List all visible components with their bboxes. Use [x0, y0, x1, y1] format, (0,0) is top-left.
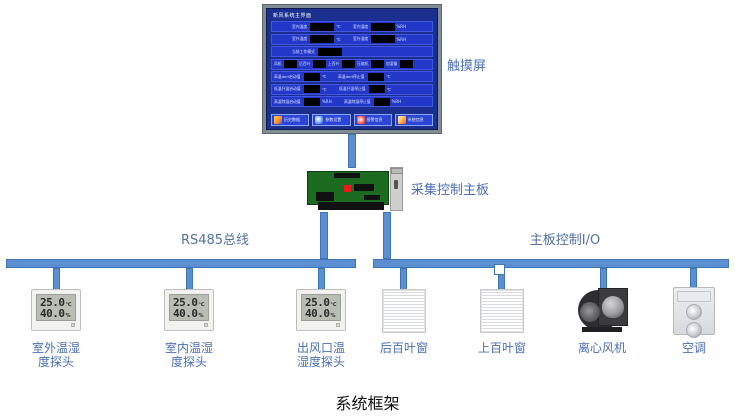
hmi-field: 上百叶 — [328, 60, 355, 68]
hmi-field: 高温derī停止值 ℃ — [338, 73, 390, 81]
field-value-box[interactable] — [304, 85, 320, 93]
touchscreen-label: 触摸屏 — [447, 60, 486, 74]
pcb-port-slot — [394, 180, 398, 189]
pcb-chip — [354, 184, 374, 191]
field-label: 高温deri启动值 — [274, 75, 300, 79]
louver-body — [382, 289, 426, 333]
button-label: 参数设置 — [325, 117, 341, 123]
field-unit: ℃ — [386, 74, 391, 79]
sensor-lcd-display: 25.0 ℃ 40.0 % — [36, 294, 76, 321]
sensor-body: 25.0 ℃ 40.0 % — [296, 289, 346, 331]
hmi-row: 室外温度 ℃ 室外湿度 %RH — [271, 34, 433, 45]
ac-fan-lower — [686, 322, 702, 338]
hmi-field: 室内温度 ℃ — [292, 23, 341, 31]
lcd-humidity: 40.0 — [173, 308, 198, 319]
hmi-row-status: 风机 后百叶 上百叶 压缩机 — [271, 59, 433, 70]
alarm-icon — [357, 116, 365, 124]
drop-line-fan — [600, 268, 607, 290]
hmi-row-mode: 当前工作模式 — [271, 46, 433, 57]
label-outdoor-sensor: 室外温湿 度探头 — [6, 341, 106, 369]
lcd-humidity: 40.0 — [40, 308, 65, 319]
field-unit: ℃ — [322, 87, 327, 92]
field-label: 加湿量 — [386, 62, 397, 66]
pcb-led-indicator — [344, 185, 351, 192]
hmi-button-alarm[interactable]: 报警信息 — [354, 114, 392, 126]
field-value-box[interactable] — [318, 48, 342, 56]
device-outlet-sensor[interactable]: 25.0 ℃ 40.0 % — [296, 289, 346, 331]
hmi-field: 低温升温启动值 ℃ — [274, 85, 327, 93]
hmi-button-bar: 历史数据 参数设置 报警信息 系统信息 — [271, 112, 433, 126]
hmi-field: 高温deri启动值 ℃ — [274, 73, 326, 81]
drop-line-rear-louver — [400, 268, 407, 290]
settings-icon — [315, 116, 323, 124]
hmi-button-settings[interactable]: 参数设置 — [312, 114, 350, 126]
control-board-label: 采集控制主板 — [411, 184, 489, 198]
lcd-temperature: 25.0 — [40, 297, 65, 308]
field-value-box[interactable] — [304, 98, 320, 106]
field-label: 上百叶 — [328, 62, 339, 66]
field-unit: ℃ — [322, 74, 327, 79]
drop-line-outlet-sensor — [318, 268, 325, 290]
field-value-box[interactable] — [313, 60, 326, 68]
field-label: 室外温度 — [292, 37, 307, 41]
fan-inlet — [580, 302, 600, 322]
link-board-to-right-bus — [383, 212, 391, 259]
field-value-box[interactable] — [374, 98, 390, 106]
device-air-conditioner[interactable] — [673, 287, 715, 335]
sensor-body: 25.0 ℃ 40.0 % — [164, 289, 214, 331]
pcb-body — [307, 171, 389, 205]
rs485-bus-bar — [6, 259, 356, 268]
field-value-box[interactable] — [310, 35, 334, 43]
device-centrifugal-fan[interactable] — [578, 288, 630, 332]
field-label: 室内温度 — [292, 25, 307, 29]
field-label: 压缩机 — [357, 62, 368, 66]
acquisition-control-board[interactable] — [307, 167, 403, 212]
sensor-status-dot — [71, 323, 75, 327]
hmi-title: 新风系统主界面 — [271, 12, 433, 20]
history-icon — [274, 116, 282, 124]
field-unit: ℃ — [336, 37, 341, 42]
hmi-field: 当前工作模式 — [292, 48, 342, 56]
label-upper-louver: 上百叶窗 — [452, 341, 552, 355]
pcb-mounting-bracket — [390, 167, 403, 211]
link-board-to-left-bus — [320, 212, 328, 259]
ac-body — [673, 287, 715, 335]
fan-base — [582, 327, 622, 332]
field-label: 后百叶 — [299, 62, 310, 66]
hmi-button-info[interactable]: 系统信息 — [395, 114, 433, 126]
link-hmi-to-board — [348, 134, 356, 168]
button-label: 系统信息 — [408, 117, 424, 123]
hmi-parameter-rows: 室内温度 ℃ 室内湿度 %RH 室外温度 ℃ — [271, 21, 433, 111]
lcd-humidity-unit: % — [66, 313, 71, 319]
field-unit: %RH — [322, 99, 332, 104]
touchscreen-panel[interactable]: 新风系统主界面 室内温度 ℃ 室内湿度 %RH — [262, 4, 442, 134]
button-label: 历史数据 — [284, 117, 300, 123]
lcd-humidity-unit: % — [199, 313, 204, 319]
field-label: 室外湿度 — [353, 37, 368, 41]
field-value-box[interactable] — [342, 60, 355, 68]
field-label: 高温derī停止值 — [338, 75, 364, 79]
device-outdoor-sensor[interactable]: 25.0 ℃ 40.0 % — [31, 289, 81, 331]
field-value-box[interactable] — [284, 60, 297, 68]
drop-line-outdoor-sensor — [53, 268, 60, 290]
field-value-box[interactable] — [368, 73, 384, 81]
field-value-box[interactable] — [371, 23, 395, 31]
field-label: 高湿除湿启动值 — [274, 100, 301, 104]
button-label: 报警信息 — [367, 117, 383, 123]
hmi-field: 高湿除湿启动值 %RH — [274, 98, 332, 106]
field-unit: %RH — [397, 24, 407, 29]
field-label: 高湿除湿停止值 — [344, 100, 371, 104]
hmi-row: 低温升温启动值 ℃ 低温升温停止值 ℃ — [271, 84, 433, 95]
field-value-box[interactable] — [310, 23, 334, 31]
field-unit: ℃ — [387, 87, 392, 92]
field-label: 低温升温启动值 — [274, 87, 301, 91]
field-value-box[interactable] — [400, 60, 413, 68]
sensor-body: 25.0 ℃ 40.0 % — [31, 289, 81, 331]
lcd-temperature: 25.0 — [173, 297, 198, 308]
sensor-lcd-display: 25.0 ℃ 40.0 % — [301, 294, 341, 321]
hmi-screen: 新风系统主界面 室内温度 ℃ 室内湿度 %RH — [266, 8, 438, 130]
label-air-conditioner: 空调 — [659, 341, 729, 355]
pcb-chip — [316, 192, 334, 201]
sensor-status-dot — [204, 323, 208, 327]
ac-fan-upper — [686, 304, 702, 320]
field-unit: %RH — [397, 37, 407, 42]
field-label: 当前工作模式 — [292, 50, 315, 54]
hmi-field: 低温升温停止值 ℃ — [339, 85, 392, 93]
louver-slats — [481, 290, 523, 332]
field-label: 风机 — [274, 62, 282, 66]
field-label: 低温升温停止值 — [339, 87, 366, 91]
system-architecture-diagram: 新风系统主界面 室内温度 ℃ 室内湿度 %RH — [0, 0, 735, 420]
lcd-humidity-unit: % — [331, 313, 336, 319]
label-centrifugal-fan: 离心风机 — [552, 341, 652, 355]
fan-body — [578, 288, 630, 332]
pcb-edge-connector — [318, 202, 384, 210]
hmi-field: 风机 — [274, 60, 297, 68]
sensor-status-dot — [336, 323, 340, 327]
hmi-button-history[interactable]: 历史数据 — [271, 114, 309, 126]
rs485-bus-label: RS485总线 — [140, 234, 290, 248]
io-bus-label: 主板控制I/O — [480, 234, 650, 248]
pcb-chip — [364, 195, 380, 200]
hmi-field: 加湿量 — [386, 60, 413, 68]
label-rear-louver: 后百叶窗 — [354, 341, 454, 355]
hmi-field: 室外温度 ℃ — [292, 35, 341, 43]
label-indoor-sensor: 室内温湿 度探头 — [139, 341, 239, 369]
device-upper-louver[interactable] — [480, 289, 524, 333]
hmi-field: 后百叶 — [299, 60, 326, 68]
io-bus-bar — [373, 259, 729, 268]
louver-body — [480, 289, 524, 333]
hmi-row: 高温deri启动值 ℃ 高温derī停止值 ℃ — [271, 71, 433, 82]
diagram-caption: 系统框架 — [0, 390, 735, 414]
field-label: 室内湿度 — [353, 25, 368, 29]
lcd-temperature: 25.0 — [305, 297, 330, 308]
field-value-box[interactable] — [371, 35, 395, 43]
device-indoor-sensor[interactable]: 25.0 ℃ 40.0 % — [164, 289, 214, 331]
lcd-humidity: 40.0 — [305, 308, 330, 319]
io-junction-box — [494, 264, 505, 275]
field-unit: %RH — [392, 99, 402, 104]
device-rear-louver[interactable] — [382, 289, 426, 333]
drop-line-indoor-sensor — [186, 268, 193, 290]
hmi-row: 室内温度 ℃ 室内湿度 %RH — [271, 21, 433, 32]
hmi-field: 室内湿度 %RH — [353, 23, 407, 31]
field-value-box[interactable] — [369, 85, 385, 93]
field-unit: ℃ — [336, 24, 341, 29]
louver-slats — [383, 290, 425, 332]
sensor-lcd-display: 25.0 ℃ 40.0 % — [169, 294, 209, 321]
field-value-box[interactable] — [304, 73, 320, 81]
hmi-field: 高湿除湿停止值 %RH — [344, 98, 402, 106]
field-value-box[interactable] — [371, 60, 384, 68]
ac-top-grille — [677, 291, 711, 302]
fan-impeller — [602, 296, 624, 318]
hmi-row: 高湿除湿启动值 %RH 高湿除湿停止值 %RH — [271, 96, 433, 107]
pcb-connector — [334, 173, 360, 178]
hmi-field: 压缩机 — [357, 60, 384, 68]
pcb-bracket-tab — [391, 168, 403, 174]
hmi-field: 室外湿度 %RH — [353, 35, 407, 43]
info-icon — [398, 116, 406, 124]
